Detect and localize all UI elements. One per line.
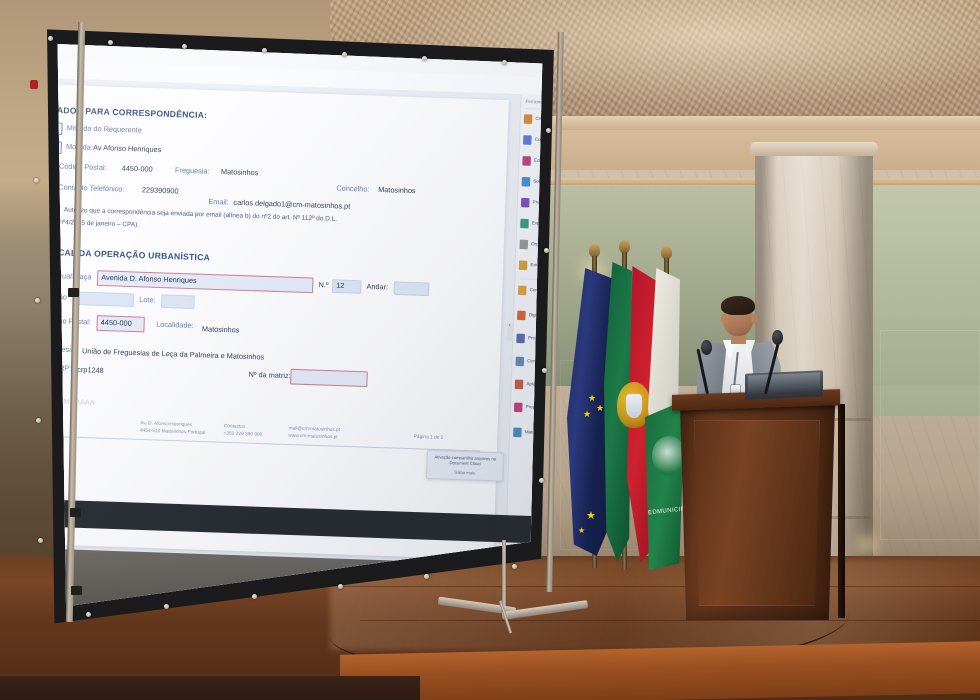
label-matriz: Nº da matriz:	[248, 372, 290, 381]
label-concelho: Concelho:	[336, 185, 369, 193]
stand-clip-upper	[68, 288, 79, 297]
value-email[interactable]: carlos.delgado1@cm-matosinhos.pt	[233, 200, 350, 211]
label-lote: Lote:	[139, 297, 156, 305]
podium-right-edge	[838, 404, 845, 618]
label-andar: Andar:	[366, 284, 388, 292]
protect-icon	[516, 334, 525, 344]
speaker-ear-left	[721, 314, 727, 324]
value-numero: 12	[336, 280, 345, 292]
value-concelho[interactable]: Matosinhos	[378, 187, 416, 196]
flatten-icon	[515, 380, 524, 390]
section-title-local-operacao: LOCAL DA OPERAÇÃO URBANÍSTICA	[46, 248, 211, 263]
request-signature-icon	[522, 177, 531, 187]
date-placeholder[interactable]: DD / MM / AAAA	[40, 398, 94, 407]
value-freguesia-1[interactable]: Matosinhos	[221, 169, 259, 178]
send-for-review-icon	[519, 260, 528, 270]
footer-web: www.cm-matosinhos.pt	[288, 432, 338, 439]
tool-solicitar-assinaturas[interactable]: Solicitar assinaturas	[522, 176, 556, 189]
footer-page-number: Página 1 de 2	[414, 434, 444, 440]
consent-text-line2: nº4/2015 de janeiro – CPA).	[59, 219, 139, 229]
menu-item-ajuda[interactable]: Ajuda	[163, 22, 177, 26]
speaker-hair	[721, 296, 755, 315]
input-fracao[interactable]	[77, 291, 134, 306]
footer-address-2: 4454-510 Matosinhos Portugal	[140, 427, 206, 434]
menu-item-assinar[interactable]: Assinar	[108, 22, 126, 24]
input-numero[interactable]: 12	[332, 279, 362, 294]
value-crp[interactable]: crp1248	[77, 367, 104, 375]
value-morada[interactable]: Av Afonso Henriques	[93, 145, 161, 155]
section-title-correspondencia: DADOS PARA CORRESPONDÊNCIA:	[50, 105, 207, 120]
footer-address-1: Av. D. Afonso Henriques	[140, 420, 192, 427]
value-endereco: Avenida D. Afonso Henriques	[101, 271, 197, 288]
chevron-left-icon[interactable]	[507, 324, 514, 341]
menu-item-ver[interactable]: Ver	[89, 22, 97, 23]
fill-and-sign-icon	[521, 198, 530, 208]
export-pdf-icon	[520, 219, 529, 229]
marble-panel-right	[880, 330, 980, 540]
tool-preencher-assinar[interactable]: Preencher e assinar	[521, 197, 556, 210]
column-capital	[750, 142, 878, 156]
document-viewport[interactable]: DADOS PARA CORRESPONDÊNCIA: ✓ Morada do …	[28, 77, 521, 564]
menu-item-editar[interactable]: Editar	[64, 22, 78, 23]
toast-learn-more-link[interactable]: Saiba mais	[454, 470, 475, 476]
footer-contact-label: Contactos	[224, 423, 246, 429]
document-cloud-toast[interactable]: Ativação compartilha arquivos na Documen…	[426, 450, 504, 482]
organize-pages-icon	[519, 240, 528, 250]
certificates-icon	[515, 357, 524, 367]
value-codigo-postal-2: 4450-000	[101, 316, 132, 331]
screen-tripod-base	[430, 540, 610, 650]
input-codigo-postal[interactable]: 4450-000	[96, 315, 145, 332]
value-freguesia-2[interactable]: União de Freguesias de Leça da Palmeira …	[82, 348, 264, 362]
label-codigo-postal-2: Código Postal:	[43, 317, 91, 326]
speaker-ear-right	[751, 314, 757, 324]
stand-clip-lower	[71, 586, 82, 595]
stand-red-marker	[30, 80, 38, 89]
floor-light-right	[852, 534, 882, 556]
comment-icon	[518, 286, 527, 296]
footer-contact-value: +351 229 390 900	[223, 430, 262, 437]
foreground-bench-shadow	[0, 676, 420, 700]
input-endereco[interactable]: Avenida D. Afonso Henriques	[97, 270, 314, 293]
menu-item-janela[interactable]: Janela	[137, 22, 153, 25]
label-codigo-postal-1: Código Postal:	[59, 163, 107, 172]
toast-message: Ativação compartilha arquivos na Documen…	[431, 454, 500, 467]
tool-organizar-paginas[interactable]: Organizar páginas	[519, 239, 556, 252]
label-contacto-telefonico: Contacto Telefónico:	[58, 184, 124, 194]
scan-ocr-icon	[517, 311, 526, 321]
label-email: Email:	[208, 199, 229, 207]
prepare-form-icon	[514, 403, 523, 413]
label-freguesia-1: Freguesia:	[175, 167, 210, 175]
value-contacto-telefonico[interactable]: 229390900	[142, 187, 179, 196]
value-codigo-postal-1[interactable]: 4450-000	[122, 165, 153, 173]
combine-files-icon	[523, 135, 532, 145]
window-title-bar: Obras de Edificação 11%.pdf - Adobe Acro…	[28, 22, 556, 31]
toast-line-2: Document Cloud	[449, 460, 480, 466]
edit-pdf-icon	[522, 156, 531, 166]
footer-mail: mail@cm-matosinhos.pt	[288, 425, 340, 432]
pdf-page: DADOS PARA CORRESPONDÊNCIA: ✓ Morada do …	[28, 84, 509, 560]
stand-clip-middle	[70, 508, 81, 517]
tool-exportar-pdf[interactable]: Exportar PDF	[520, 218, 556, 231]
more-tools-icon	[513, 428, 522, 438]
input-lote[interactable]	[161, 294, 195, 309]
create-pdf-icon	[524, 114, 533, 124]
label-localidade: Localidade:	[156, 321, 194, 330]
input-matriz[interactable]	[290, 369, 368, 387]
label-numero: N.º	[318, 282, 328, 290]
podium-front-panel	[694, 420, 820, 606]
screenshot-root: ★ ★ ★ ★ ★ EDMUNICIPIO	[0, 0, 980, 700]
input-andar[interactable]	[393, 281, 429, 296]
value-localidade[interactable]: Matosinhos	[202, 326, 240, 335]
